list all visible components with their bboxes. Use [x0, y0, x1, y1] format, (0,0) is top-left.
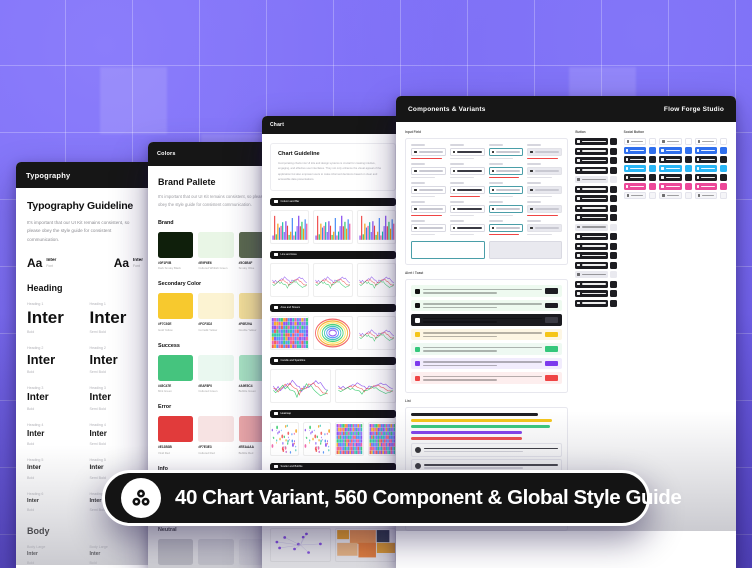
typography-row-label: Heading 3: [90, 386, 144, 390]
alert-banner[interactable]: [411, 343, 562, 355]
alert-banner[interactable]: [411, 300, 562, 312]
typography-row-label: Heading 1: [90, 302, 144, 306]
button[interactable]: [575, 205, 607, 212]
social-icon-button[interactable]: [720, 183, 727, 190]
input-field[interactable]: [489, 182, 524, 197]
typography-specimen: Aa Inter Font: [27, 257, 56, 269]
social-icon-button[interactable]: [720, 165, 727, 172]
field-value: [419, 151, 443, 153]
social-icon-button[interactable]: [720, 138, 727, 145]
field-input[interactable]: [527, 205, 562, 213]
typography-row: Heading 2InterSemi Bold: [90, 346, 144, 374]
color-group-title: Neutral: [158, 527, 274, 533]
field-hint: [411, 234, 435, 236]
social-icon-button[interactable]: [649, 147, 656, 154]
alert-text: [423, 303, 542, 308]
chart-section-label: Heatmap: [281, 412, 292, 415]
social-button[interactable]: [624, 183, 646, 190]
field-input[interactable]: [411, 224, 446, 232]
field-label: [527, 182, 541, 184]
chart-thumbnail-density-dots[interactable]: [270, 422, 299, 456]
field-input[interactable]: [489, 167, 524, 175]
typography-row-sample: Inter: [27, 353, 81, 366]
field-value: [419, 208, 443, 210]
field-input[interactable]: [450, 205, 485, 213]
color-swatch[interactable]: #FCF3D2Cornsilk Yellow: [198, 293, 233, 332]
field-input[interactable]: [450, 224, 485, 232]
field-hint: [527, 196, 551, 198]
button[interactable]: [575, 157, 607, 164]
button[interactable]: [575, 138, 607, 145]
input-field[interactable]: [527, 182, 562, 197]
color-swatch[interactable]: #EAF8F0Cultured Green: [198, 355, 233, 394]
input-field[interactable]: [411, 182, 446, 197]
social-button[interactable]: [659, 183, 681, 190]
typography-specimen: Aa Inter Font: [114, 257, 143, 269]
colors-paragraph: It's important that our UI Kit remains c…: [158, 193, 274, 209]
icon-button[interactable]: [610, 138, 617, 145]
chart-thumbnail-rainbow-bar[interactable]: [357, 210, 396, 244]
social-icon-button[interactable]: [685, 183, 692, 190]
alert-action-button[interactable]: [545, 332, 558, 338]
section-title-list: List: [405, 399, 568, 403]
specimen-sub: Font: [46, 264, 56, 268]
color-swatch-row: #45C47EMint Green#EAF8F0Cultured Green#A…: [158, 355, 274, 394]
panel-chart-title: Chart: [270, 122, 284, 128]
field-label: [489, 201, 503, 203]
button[interactable]: [575, 271, 607, 278]
chart-thumbnail-step-line[interactable]: [357, 263, 396, 297]
typography-row: Heading 1InterSemi Bold: [90, 302, 144, 334]
field-input[interactable]: [450, 148, 485, 156]
button[interactable]: [575, 167, 607, 174]
typography-row-weight: Semi Bold: [90, 407, 144, 411]
field-error-bar: [527, 215, 558, 217]
input-field[interactable]: [411, 163, 446, 178]
typography-row-weight: Bold: [27, 561, 81, 565]
field-input[interactable]: [411, 148, 446, 156]
swatch-name: Gold Yellow: [158, 328, 193, 332]
swatch-name: Dark Smoky Black: [158, 266, 193, 270]
typography-section-heading: Heading: [27, 283, 143, 293]
field-hint: [450, 215, 474, 217]
social-icon-button[interactable]: [649, 156, 656, 163]
social-button[interactable]: [695, 174, 717, 181]
swatch-hex: #EAF8F0: [198, 384, 233, 388]
chart-thumbnail-ridge-contour[interactable]: [313, 316, 352, 350]
social-button[interactable]: [624, 192, 646, 199]
alert-text: [423, 318, 542, 323]
icon-button[interactable]: [610, 243, 617, 250]
field-input[interactable]: [489, 224, 524, 232]
field-icon: [453, 189, 456, 192]
social-icon-button[interactable]: [685, 174, 692, 181]
swatch-chip: [198, 355, 233, 381]
field-input[interactable]: [527, 167, 562, 175]
brand-logo: [121, 478, 161, 518]
field-label: [527, 163, 541, 165]
icon-button[interactable]: [610, 281, 617, 288]
field-label: [450, 201, 464, 203]
button[interactable]: [575, 233, 607, 240]
social-button[interactable]: [624, 138, 646, 145]
social-button[interactable]: [624, 165, 646, 172]
icon-button[interactable]: [610, 252, 617, 259]
field-value: [496, 189, 520, 191]
input-field[interactable]: [527, 163, 562, 178]
social-icon-button[interactable]: [685, 156, 692, 163]
components-column-social: Social Button: [624, 130, 727, 531]
chart-thumb-row: [270, 210, 396, 244]
chat-list-item[interactable]: [411, 443, 562, 457]
chart-section-header: Area and Stream: [270, 304, 396, 312]
color-swatch[interactable]: #F7C92EGold Yellow: [158, 293, 193, 332]
button-row: [575, 271, 616, 281]
color-swatch[interactable]: #E9F6E6Cultured Whitish Green: [198, 232, 233, 271]
icon-button[interactable]: [610, 176, 617, 183]
chart-section-label: Candle and Sparkline: [281, 359, 306, 362]
field-value: [457, 151, 481, 153]
button[interactable]: [575, 224, 607, 231]
field-hint: [450, 158, 474, 160]
color-swatch-row: #F7C92EGold Yellow#FCF3D2Cornsilk Yellow…: [158, 293, 274, 332]
icon-button[interactable]: [610, 148, 617, 155]
input-field[interactable]: [450, 163, 485, 178]
field-label: [411, 163, 425, 165]
button[interactable]: [575, 148, 607, 155]
swatch-chip: [158, 416, 193, 442]
icon-button[interactable]: [610, 233, 617, 240]
icon-button[interactable]: [610, 195, 617, 202]
chart-thumbnail-grid-heatmap[interactable]: [335, 422, 364, 456]
swatch-name: Cultured Whitish Green: [198, 266, 233, 270]
field-value: [496, 208, 520, 210]
color-swatch[interactable]: #0F1F0BDark Smoky Black: [158, 232, 193, 271]
input-field[interactable]: [411, 201, 446, 216]
icon-button[interactable]: [610, 224, 617, 231]
input-field[interactable]: [450, 182, 485, 197]
alert-banner[interactable]: [411, 372, 562, 384]
progress-bar: [411, 437, 522, 440]
chart-thumbnail-dotted-line-bar[interactable]: [313, 210, 352, 244]
field-icon: [414, 208, 417, 211]
field-icon: [530, 227, 533, 230]
button-row: [575, 138, 616, 148]
swatch-name: Cultured Green: [198, 389, 233, 393]
social-button[interactable]: [624, 147, 646, 154]
input-field[interactable]: [489, 220, 524, 235]
field-hint: [489, 215, 513, 217]
button[interactable]: [575, 214, 607, 221]
chart-thumbnail-area-band[interactable]: [270, 263, 309, 297]
field-value: [535, 189, 559, 191]
input-field[interactable]: [411, 144, 446, 159]
chat-text: [424, 448, 558, 453]
chart-thumbnail-stream-heat[interactable]: [270, 316, 309, 350]
typography-row: Body LargeInterBold: [27, 545, 81, 565]
colors-heading: Brand Pallete: [158, 177, 274, 187]
button-row: [575, 252, 616, 262]
typography-row-label: Heading 2: [27, 346, 81, 350]
promo-banner[interactable]: 40 Chart Variant, 560 Component & Global…: [102, 470, 650, 526]
typography-row-sample: Inter: [90, 430, 144, 438]
alert-text: [423, 289, 542, 294]
field-value: [535, 151, 559, 153]
field-input[interactable]: [527, 224, 562, 232]
section-title-alert: Alert / Toast: [405, 271, 568, 275]
social-icon-button[interactable]: [649, 174, 656, 181]
alert-icon: [415, 347, 420, 352]
typography-row-label: Heading 6: [27, 492, 81, 496]
field-value: [419, 227, 443, 229]
button-row: [575, 167, 616, 177]
icon-button[interactable]: [610, 214, 617, 221]
social-button[interactable]: [695, 147, 717, 154]
specimen-name: Inter: [133, 257, 143, 262]
social-icon-button[interactable]: [649, 183, 656, 190]
chart-heading: Chart Guideline: [278, 151, 388, 157]
alert-banner[interactable]: [411, 314, 562, 326]
chart-thumbnail-smooth-line[interactable]: [335, 369, 396, 403]
social-icon-button[interactable]: [685, 138, 692, 145]
field-label: [450, 182, 464, 184]
field-icon: [453, 170, 456, 173]
field-error-bar: [450, 196, 481, 198]
chart-thumbnail-spark-area[interactable]: [357, 316, 396, 350]
icon-button[interactable]: [610, 300, 617, 307]
field-label: [527, 201, 541, 203]
social-button[interactable]: [695, 183, 717, 190]
button-row: [575, 224, 616, 234]
typography-row-weight: Bold: [27, 370, 81, 374]
chart-thumbnail-network-graph[interactable]: [270, 528, 331, 562]
field-label: [411, 182, 425, 184]
typography-section-body: Body: [27, 526, 143, 536]
swatch-chip: [198, 416, 233, 442]
social-button[interactable]: [695, 165, 717, 172]
icon-button[interactable]: [610, 290, 617, 297]
field-label: [489, 182, 503, 184]
three-circles-logo-icon: [130, 487, 152, 509]
social-icon-button[interactable]: [685, 165, 692, 172]
button[interactable]: [575, 290, 607, 297]
button[interactable]: [575, 262, 607, 269]
input-field[interactable]: [450, 220, 485, 235]
button-row: [575, 262, 616, 272]
panel-chart-titlebar: Chart: [262, 116, 404, 134]
button-row: [575, 233, 616, 243]
button-list: [575, 138, 616, 309]
input-field[interactable]: [527, 201, 562, 216]
chart-section-label: Scatter and Bubble: [281, 465, 303, 468]
field-icon: [453, 227, 456, 230]
field-input[interactable]: [411, 205, 446, 213]
field-input[interactable]: [489, 148, 524, 156]
alert-banner[interactable]: [411, 285, 562, 297]
field-hint: [489, 196, 513, 198]
field-value: [535, 170, 559, 172]
button-row: [575, 157, 616, 167]
alert-icon: [415, 303, 420, 308]
button[interactable]: [575, 186, 607, 193]
input-field[interactable]: [411, 220, 446, 235]
specimen-sub: Font: [133, 264, 143, 268]
social-icon-button[interactable]: [720, 147, 727, 154]
panel-typography-title: Typography: [26, 171, 70, 180]
social-icon-button[interactable]: [649, 192, 656, 199]
social-button[interactable]: [659, 165, 681, 172]
social-button[interactable]: [659, 147, 681, 154]
social-icon-button[interactable]: [685, 147, 692, 154]
textarea-field[interactable]: [489, 241, 563, 259]
alert-banner[interactable]: [411, 329, 562, 341]
social-icon-button[interactable]: [685, 192, 692, 199]
alert-icon: [415, 361, 420, 366]
social-icon-button[interactable]: [720, 192, 727, 199]
button[interactable]: [575, 300, 607, 307]
alert-banner[interactable]: [411, 358, 562, 370]
typography-row: Heading 4InterBold: [27, 423, 81, 446]
alert-action-button[interactable]: [545, 288, 558, 294]
swatch-chip: [198, 293, 233, 319]
icon-button[interactable]: [610, 205, 617, 212]
alert-action-button[interactable]: [545, 375, 558, 381]
input-field[interactable]: [450, 201, 485, 216]
field-error-bar: [411, 158, 442, 160]
field-icon: [492, 208, 495, 211]
social-icon-button[interactable]: [649, 165, 656, 172]
chart-thumbnail-volatile-line[interactable]: [270, 369, 331, 403]
alert-action-button[interactable]: [545, 361, 558, 367]
chart-thumbnail-scatter-dots[interactable]: [303, 422, 332, 456]
button[interactable]: [575, 243, 607, 250]
typography-heading: Typography Guideline: [27, 200, 143, 212]
color-group-title: Success: [158, 343, 274, 349]
field-hint: [450, 177, 474, 179]
social-button[interactable]: [695, 156, 717, 163]
chart-thumbnail-multi-line[interactable]: [313, 263, 352, 297]
field-input[interactable]: [450, 186, 485, 194]
alert-action-button[interactable]: [545, 303, 558, 309]
field-hint: [527, 177, 551, 179]
typography-row-weight: Semi Bold: [90, 370, 144, 374]
color-swatch[interactable]: #45C47EMint Green: [158, 355, 193, 394]
swatch-hex: #F7C92E: [158, 322, 193, 326]
social-button[interactable]: [659, 174, 681, 181]
typography-row-sample: Inter: [90, 353, 144, 366]
social-button[interactable]: [659, 138, 681, 145]
field-input[interactable]: [411, 186, 446, 194]
chart-thumbnail-grouped-bar[interactable]: [270, 210, 309, 244]
progress-bar: [411, 419, 552, 422]
input-field[interactable]: [527, 144, 562, 159]
social-icon-button[interactable]: [720, 156, 727, 163]
typography-row-label: Heading 4: [90, 423, 144, 427]
input-field[interactable]: [489, 201, 524, 216]
line-chart-icon: [274, 253, 278, 257]
color-swatch[interactable]: #C8C8CEGrey 100: [158, 539, 193, 568]
alert-action-button[interactable]: [545, 317, 558, 323]
input-field[interactable]: [527, 220, 562, 235]
swatch-chip: [198, 232, 233, 258]
icon-button[interactable]: [610, 271, 617, 278]
field-label: [450, 220, 464, 222]
swatch-name: Mint Green: [158, 389, 193, 393]
panel-components-titlebar: Components & Variants Flow Forge Studio: [396, 96, 736, 122]
social-button[interactable]: [659, 192, 681, 199]
alert-icon: [415, 332, 420, 337]
typography-row-label: Body Large: [90, 545, 144, 549]
color-swatch[interactable]: #E13B3BVivid Red: [158, 416, 193, 455]
social-button[interactable]: [624, 174, 646, 181]
typography-row: Heading 5InterBold: [27, 458, 81, 480]
button[interactable]: [575, 252, 607, 259]
alert-action-button[interactable]: [545, 346, 558, 352]
color-swatch[interactable]: #F7E3E3Cultured Red: [198, 416, 233, 455]
social-button[interactable]: [695, 138, 717, 145]
social-button[interactable]: [624, 156, 646, 163]
input-field[interactable]: [489, 144, 524, 159]
chart-thumb-row: [270, 528, 396, 562]
typography-row-sample: Inter: [27, 430, 81, 438]
swatch-hex: #E13B3B: [158, 445, 193, 449]
field-value: [535, 208, 559, 210]
field-hint: [527, 234, 551, 236]
button[interactable]: [575, 281, 607, 288]
field-input[interactable]: [527, 148, 562, 156]
field-hint: [489, 158, 513, 160]
alert-text: [423, 332, 542, 337]
field-value: [496, 227, 520, 229]
field-input[interactable]: [489, 205, 524, 213]
typography-row-sample: Inter: [27, 309, 81, 326]
alert-text: [423, 376, 542, 381]
section-title-button: Button: [575, 130, 616, 134]
field-label: [411, 220, 425, 222]
field-input[interactable]: [411, 167, 446, 175]
button[interactable]: [575, 176, 607, 183]
color-swatch[interactable]: #DEDEE4Grey 200: [198, 539, 233, 568]
icon-button[interactable]: [610, 167, 617, 174]
textarea-field[interactable]: [411, 241, 485, 259]
icon-button[interactable]: [610, 186, 617, 193]
button[interactable]: [575, 195, 607, 202]
color-group-title: Brand: [158, 220, 274, 226]
input-field[interactable]: [489, 163, 524, 178]
social-icon-button[interactable]: [649, 138, 656, 145]
typography-row-weight: Bold: [27, 508, 81, 512]
chart-thumbnail-treemap-blocks[interactable]: [335, 528, 396, 562]
swatch-chip: [158, 539, 193, 565]
icon-button[interactable]: [610, 157, 617, 164]
field-value: [496, 170, 520, 172]
field-input[interactable]: [450, 167, 485, 175]
social-button[interactable]: [659, 156, 681, 163]
progress-bar: [411, 431, 522, 434]
color-group-title: Error: [158, 404, 274, 410]
chart-thumbnail-color-grid[interactable]: [368, 422, 397, 456]
social-icon-button[interactable]: [720, 174, 727, 181]
field-hint: [450, 234, 474, 236]
typography-row-sample: Inter: [90, 393, 144, 403]
button-row: [575, 186, 616, 196]
input-field[interactable]: [450, 144, 485, 159]
social-button[interactable]: [695, 192, 717, 199]
icon-button[interactable]: [610, 262, 617, 269]
field-input[interactable]: [527, 186, 562, 194]
field-input[interactable]: [489, 186, 524, 194]
swatch-hex: #0F1F0B: [158, 261, 193, 265]
